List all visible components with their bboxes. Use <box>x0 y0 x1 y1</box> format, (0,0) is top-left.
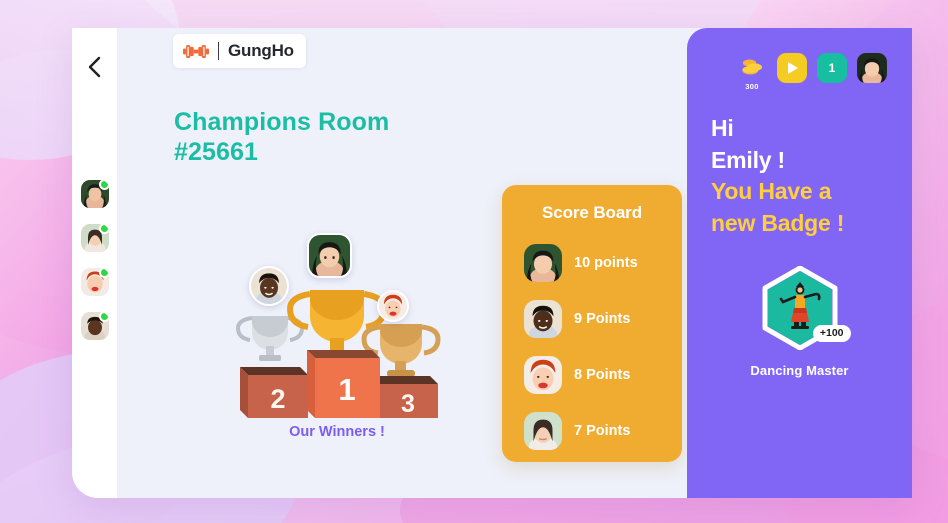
score-points: 8 Points <box>574 367 630 383</box>
sidebar-item-participant-1[interactable] <box>81 180 109 208</box>
coins-indicator[interactable]: 300 <box>737 53 767 83</box>
avatar-asian-woman-icon <box>524 412 562 450</box>
greeting-line-2: Emily ! <box>711 145 912 177</box>
greeting-block: Hi Emily ! You Have a new Badge ! <box>687 83 912 240</box>
user-panel: 300 1 Hi Emily ! You Have a new Badge ! <box>687 28 912 498</box>
score-avatar-3 <box>524 356 562 394</box>
score-avatar-1 <box>524 244 562 282</box>
coins-count: 300 <box>737 82 767 91</box>
score-points: 7 Points <box>574 423 630 439</box>
score-row[interactable]: 10 points <box>502 235 682 291</box>
greeting-line-1: Hi <box>711 113 912 145</box>
podium-rank-3: 3 <box>401 390 415 418</box>
dumbbell-icon <box>183 43 209 60</box>
avatar-black-man-icon <box>251 268 287 304</box>
online-status-dot <box>99 268 109 278</box>
score-points: 10 points <box>574 255 638 271</box>
logo-text: GungHo <box>228 41 294 61</box>
sidebar-item-participant-2[interactable] <box>81 224 109 252</box>
level-badge[interactable]: 1 <box>817 53 847 83</box>
score-row[interactable]: 7 Points <box>502 403 682 459</box>
page-title: Champions Room #25661 <box>174 108 389 167</box>
score-row[interactable]: 9 Points <box>502 291 682 347</box>
online-status-dot <box>99 180 109 190</box>
podium-rank-2: 2 <box>270 384 285 414</box>
level-number: 1 <box>829 61 836 75</box>
play-icon <box>786 61 799 75</box>
sidebar-item-participant-3[interactable] <box>81 268 109 296</box>
winner-avatar-1[interactable] <box>307 233 352 278</box>
winners-podium: 2 1 3 <box>222 228 452 458</box>
badge-name: Dancing Master <box>750 363 848 378</box>
online-status-dot <box>99 224 109 234</box>
brand-logo[interactable]: GungHo <box>173 34 306 68</box>
play-button[interactable] <box>777 53 807 83</box>
score-avatar-2 <box>524 300 562 338</box>
score-row[interactable]: 8 Points <box>502 347 682 403</box>
user-avatar[interactable] <box>857 53 887 83</box>
score-board-panel: Score Board 10 points <box>502 185 682 462</box>
podium-rank-1: 1 <box>338 372 355 407</box>
sidebar-avatar-list <box>81 180 109 340</box>
winner-avatar-3[interactable] <box>377 290 409 322</box>
left-sidebar <box>72 28 117 498</box>
chevron-left-icon <box>87 56 102 78</box>
badge-hexagon: +100 <box>761 266 839 350</box>
logo-divider <box>218 42 219 60</box>
coins-icon <box>740 58 764 78</box>
greeting-line-3: You Have a <box>711 176 912 208</box>
winners-caption: Our Winners ! <box>222 424 452 440</box>
panel-toolbar: 300 1 <box>687 28 912 83</box>
score-avatar-4 <box>524 412 562 450</box>
online-status-dot <box>99 312 109 322</box>
badge-bonus: +100 <box>813 325 851 342</box>
badge-block[interactable]: +100 Dancing Master <box>687 266 912 378</box>
back-button[interactable] <box>82 54 108 80</box>
greeting-line-4: new Badge ! <box>711 208 912 240</box>
avatar-redhead-icon <box>524 356 562 394</box>
sidebar-item-participant-4[interactable] <box>81 312 109 340</box>
avatar-dark-hat-icon <box>309 235 350 276</box>
avatar-redhead-icon <box>379 292 407 320</box>
avatar-black-man-icon <box>524 300 562 338</box>
winner-avatar-2[interactable] <box>249 266 289 306</box>
avatar-dark-hat-icon <box>524 244 562 282</box>
score-board-title: Score Board <box>502 203 682 223</box>
avatar-dark-hat-icon <box>857 53 887 83</box>
score-points: 9 Points <box>574 311 630 327</box>
